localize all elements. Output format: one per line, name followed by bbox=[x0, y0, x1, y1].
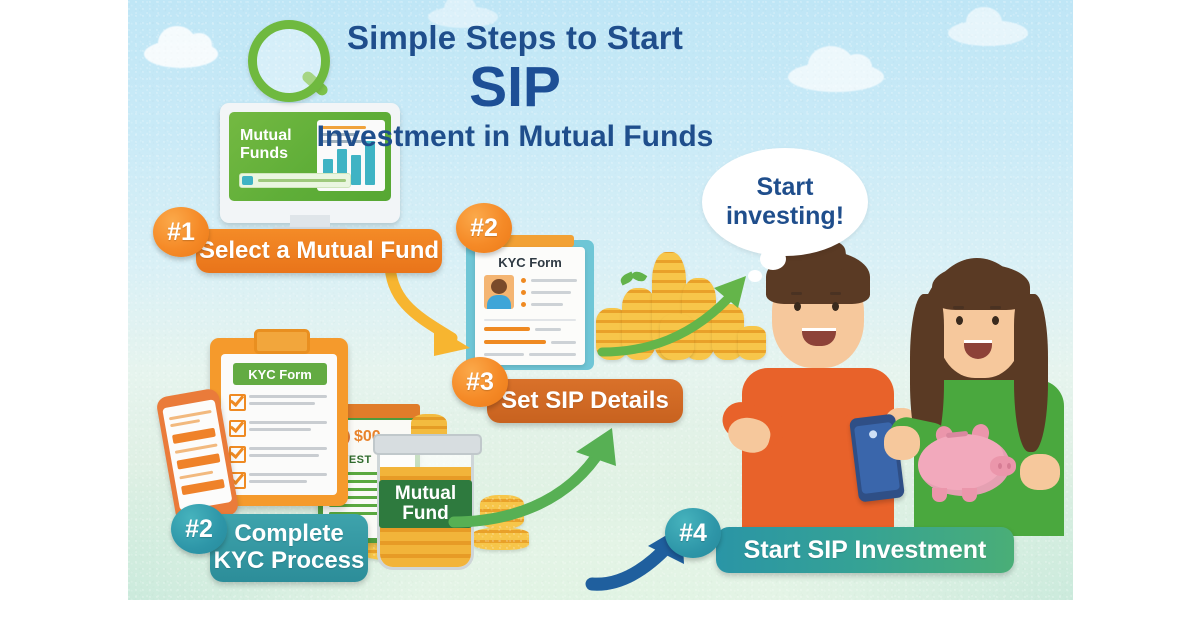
step-2-top-badge[interactable]: #2 bbox=[456, 203, 512, 253]
woman-hand bbox=[1020, 454, 1060, 490]
monitor-screen-title: Mutual Funds bbox=[240, 127, 292, 163]
step-1-badge[interactable]: #1 bbox=[153, 207, 209, 257]
form-line bbox=[249, 402, 315, 405]
piggy-snout bbox=[990, 456, 1016, 476]
title-line-2: SIP bbox=[300, 58, 730, 118]
step-2-label-line-2: KYC Process bbox=[214, 548, 365, 575]
form-line bbox=[249, 454, 319, 457]
step-2-badge[interactable]: #2 bbox=[171, 504, 227, 554]
speech-bubble-tail bbox=[760, 248, 786, 270]
page-title: Simple Steps to Start SIP Investment in … bbox=[300, 20, 730, 155]
woman-hand bbox=[884, 426, 920, 460]
step-4-label[interactable]: Start SIP Investment bbox=[716, 527, 1014, 573]
step-3-label[interactable]: Set SIP Details bbox=[487, 379, 683, 423]
clipboard-header-label: KYC Form bbox=[233, 363, 327, 385]
form-line bbox=[249, 473, 327, 476]
speech-line-1: Start bbox=[726, 173, 844, 203]
speech-bubble: Start investing! bbox=[702, 148, 868, 256]
people-illustration bbox=[726, 228, 1073, 536]
clipboard-paper: KYC Form bbox=[221, 354, 337, 495]
form-line bbox=[249, 447, 327, 450]
checkbox-checked-icon bbox=[229, 420, 246, 437]
cloud-icon bbox=[948, 20, 1028, 46]
form-line bbox=[249, 395, 327, 398]
cloud-icon bbox=[144, 40, 218, 68]
title-line-1: Simple Steps to Start bbox=[300, 20, 730, 56]
infographic-canvas: Mutual Funds bbox=[0, 0, 1200, 628]
screen-search-bar bbox=[239, 173, 351, 188]
woman-hair bbox=[1014, 294, 1048, 452]
form-line bbox=[249, 428, 311, 431]
title-line-3: Investment in Mutual Funds bbox=[300, 120, 730, 155]
phone-screen bbox=[162, 399, 232, 511]
step-2-label[interactable]: Complete KYC Process bbox=[210, 514, 368, 582]
step-2-label-line-1: Complete bbox=[234, 521, 343, 548]
checkbox-checked-icon bbox=[229, 394, 246, 411]
checkbox-checked-icon bbox=[229, 446, 246, 463]
form-line bbox=[249, 480, 307, 483]
step-3-badge[interactable]: #3 bbox=[452, 357, 508, 407]
piggy-bank-icon bbox=[918, 424, 1018, 502]
step-1-label[interactable]: Select a Mutual Fund bbox=[196, 229, 442, 273]
cloud-icon bbox=[788, 62, 884, 92]
speech-line-2: investing! bbox=[726, 202, 844, 232]
form-line bbox=[249, 421, 327, 424]
speech-bubble-tail bbox=[748, 270, 762, 282]
clipboard-clamp bbox=[254, 329, 310, 354]
step-4-badge[interactable]: #4 bbox=[665, 508, 721, 558]
